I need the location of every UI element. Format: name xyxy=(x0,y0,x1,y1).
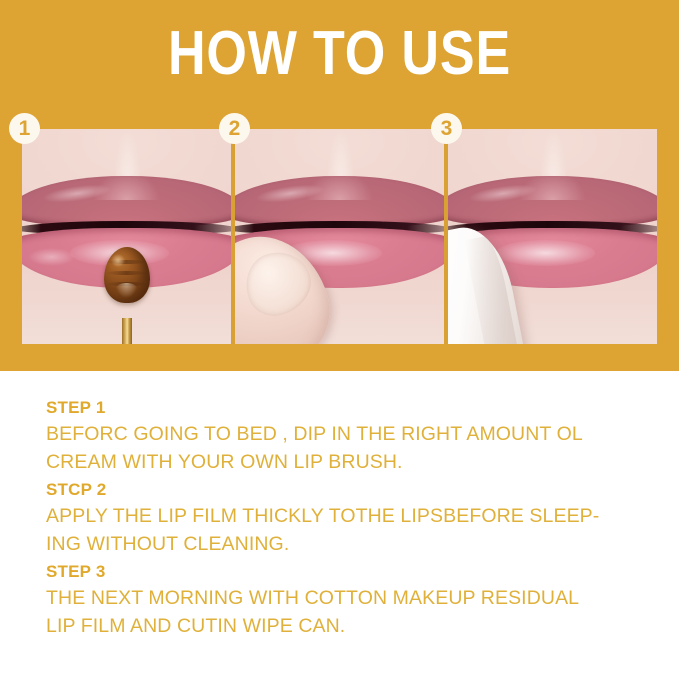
photo-strip xyxy=(22,129,657,344)
step-2-heading: STCP 2 xyxy=(46,478,646,502)
step-badge-3: 3 xyxy=(431,113,462,144)
applicator-ridge xyxy=(106,271,146,275)
step-photo-2 xyxy=(235,129,444,344)
applicator-stick-icon xyxy=(122,318,132,344)
lower-lip-gloss-secondary xyxy=(28,248,75,266)
page-title: HOW TO USE xyxy=(54,22,624,86)
upper-lip-sheen xyxy=(41,181,113,206)
instruction-step-3: STEP 3 THE NEXT MORNING WITH COTTON MAKE… xyxy=(46,560,646,640)
step-3-heading: STEP 3 xyxy=(46,560,646,584)
honey-dipper-applicator-icon xyxy=(104,247,150,303)
applicator-highlight xyxy=(111,254,125,267)
upper-lip-sheen xyxy=(254,181,326,206)
upper-lip xyxy=(448,176,657,228)
instruction-step-2: STCP 2 APPLY THE LIP FILM THICKLY TOTHE … xyxy=(46,478,646,558)
step-1-body: BEFORC GOING TO BED , DIP IN THE RIGHT A… xyxy=(46,420,646,476)
step-badge-2: 2 xyxy=(219,113,250,144)
upper-lip xyxy=(235,176,444,228)
upper-lip xyxy=(22,176,231,228)
step-photo-1 xyxy=(22,129,231,344)
step-3-body: THE NEXT MORNING WITH COTTON MAKEUP RESI… xyxy=(46,584,646,640)
applicator-cream-drip xyxy=(115,283,139,298)
instructions-list: STEP 1 BEFORC GOING TO BED , DIP IN THE … xyxy=(46,396,646,642)
step-photo-3 xyxy=(448,129,657,344)
step-2-body: APPLY THE LIP FILM THICKLY TOTHE LIPSBEF… xyxy=(46,502,646,558)
instruction-step-1: STEP 1 BEFORC GOING TO BED , DIP IN THE … xyxy=(46,396,646,476)
upper-lip-sheen xyxy=(467,181,539,206)
step-badge-1: 1 xyxy=(9,113,40,144)
step-1-heading: STEP 1 xyxy=(46,396,646,420)
lower-lip-gloss xyxy=(496,240,594,266)
